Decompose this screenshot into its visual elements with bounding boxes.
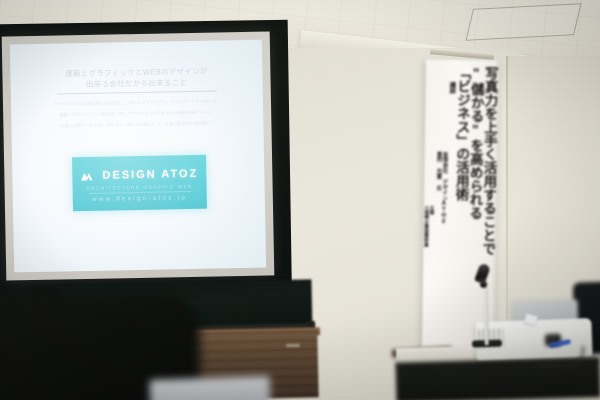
seminar-room-photo: 建築とグラフィックとWEBのデザインが 出来る会社だから出来ること デザインの力…	[0, 0, 600, 400]
logo-wordmark: DESIGN ATOZ	[102, 168, 198, 182]
logo-url: www.design-atoz.jp	[73, 195, 207, 204]
slide-title: 建築とグラフィックとWEBのデザインが 出来る会社だから出来ること	[24, 66, 248, 91]
vertical-banner: 写真力を上手く活用することで "儲かる"を高められる 「ビジネス」の活用術 講師…	[422, 59, 500, 350]
logo-row: DESIGN ATOZ	[72, 168, 206, 183]
banner-organizer-label: 主催	[429, 206, 434, 215]
banner-columns: 写真力を上手く活用することで "儲かる"を高められる 「ビジネス」の活用術 講師…	[422, 59, 500, 350]
slide-paragraph-2: 建築・グラフィック・WEBを一貫して手がけることで生まれる相乗効果について。	[51, 109, 223, 118]
logo-divider	[89, 191, 191, 194]
design-atoz-logo-box: DESIGN ATOZ ARCHITECTURE GRAPHIC WEB www…	[72, 155, 207, 212]
banner-lecturer-company: 有限会社 デザインATOZ	[440, 152, 447, 225]
power-cable	[536, 346, 584, 366]
slide-divider	[57, 90, 217, 94]
lectern-handle	[286, 344, 300, 347]
slide-paragraph-3: 写真と言葉で「伝える」デザイン。売れる仕組みをつくる為の実践的な事例紹介。	[51, 120, 223, 129]
slide-body-text: デザインの力で企業の魅力を引き出し、伝わるカタチにする。ブランディングの考え方。…	[51, 98, 224, 134]
projection-screen: 建築とグラフィックとWEBのデザインが 出来る会社だから出来ること デザインの力…	[10, 40, 266, 273]
mountain-zigzag-logo-icon	[80, 170, 96, 181]
slide-paragraph-1: デザインの力で企業の魅力を引き出し、伝わるカタチにする。ブランディングの考え方。	[51, 98, 223, 107]
ceiling-access-hatch-icon	[466, 3, 582, 41]
foreground-paper	[150, 376, 271, 400]
